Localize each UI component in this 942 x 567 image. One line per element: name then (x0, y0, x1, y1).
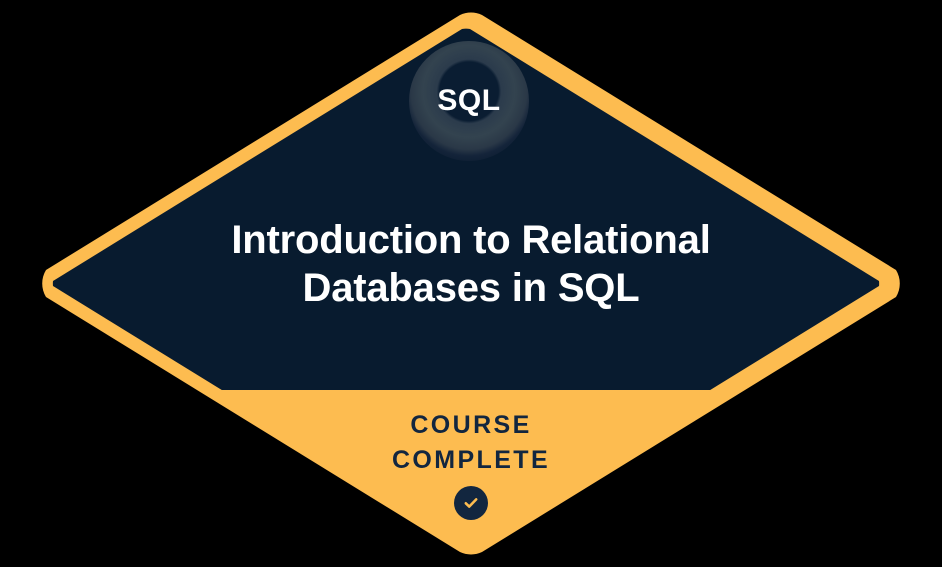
sql-emblem-label: SQL (437, 86, 500, 116)
check-circle-icon (454, 486, 488, 520)
sql-emblem-icon: SQL (409, 41, 529, 161)
badge-canvas: SQL Introduction to Relational Databases… (0, 0, 942, 567)
